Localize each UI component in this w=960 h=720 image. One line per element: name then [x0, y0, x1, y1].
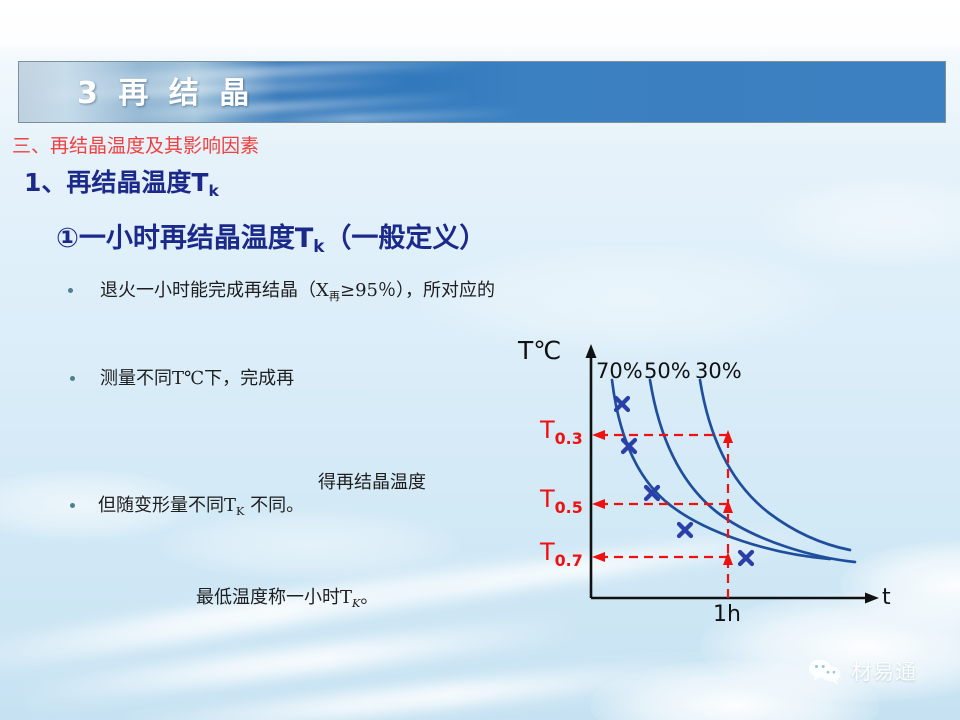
- bullet-marker: [68, 288, 73, 293]
- y-tick-t03-sub: 0.3: [555, 429, 583, 448]
- marker-cross: [616, 398, 628, 410]
- y-tick-t05-sub: 0.5: [555, 498, 583, 517]
- heading-level-2: ①一小时再结晶温度Tk（一般定义）: [56, 216, 486, 255]
- bullet-3-line-1b: 不同。: [244, 495, 304, 516]
- page-title: 3 再 结 晶: [77, 68, 254, 112]
- chart-series-label-30: 30%: [695, 359, 742, 383]
- heading-level-2-suffix: （一般定义）: [324, 223, 486, 254]
- chart-y-tick-t07: T0.7: [540, 538, 583, 566]
- y-tick-t03-base: T: [540, 416, 555, 444]
- side-note: 得再结晶温度: [318, 468, 426, 494]
- recrystallization-chart: T℃ 70% 50% 30% T0.3 T0.5 T0.7 1h t: [520, 330, 960, 630]
- bullet-item-2: 测量不同T℃下，完成再 结晶所需时间, 终了线，找出TK。: [100, 363, 294, 394]
- watermark-label: 材易通: [851, 656, 917, 686]
- y-tick-t05-base: T: [540, 485, 555, 513]
- bullet-1-line-2b: 。: [360, 587, 378, 608]
- heading-level-2-subscript: k: [313, 236, 324, 256]
- y-tick-t07-sub: 0.7: [555, 551, 583, 570]
- chart-x-axis-title: t: [882, 585, 891, 610]
- wechat-icon: [808, 658, 842, 684]
- bullet-item-3: 但随变形量不同TK 不同。: [98, 490, 304, 523]
- chart-guides: [604, 435, 728, 598]
- heading-level-2-prefix: ①一小时再结晶温度T: [56, 223, 313, 254]
- marker-cross: [679, 524, 691, 536]
- curve-30: [700, 380, 850, 550]
- heading-level-1-text: 1、再结晶温度T: [24, 168, 208, 197]
- heading-level-1: 1、再结晶温度Tk: [24, 163, 219, 199]
- bullet-marker: [70, 503, 75, 508]
- bullet-3-line-1-subscript: K: [236, 505, 244, 518]
- chart-x-tick-1h: 1h: [713, 602, 741, 627]
- bullet-1-line-2: 最低温度称一小时TK。: [196, 582, 378, 615]
- watermark: 材易通: [808, 656, 917, 686]
- chart-series-label-70: 70%: [596, 359, 643, 383]
- bullet-1-line-1-subscript: 再: [329, 290, 340, 303]
- heading-level-1-subscript: k: [208, 182, 218, 200]
- bullet-1-line-1a: 退火一小时能完成再结晶（X: [100, 280, 329, 301]
- chart-y-tick-t05: T0.5: [540, 485, 583, 513]
- bullet-1-line-1b: ≥95％），所对应的: [340, 280, 495, 301]
- y-tick-t07-base: T: [540, 538, 555, 566]
- slide-title-bar: 3 再 结 晶: [18, 61, 946, 123]
- chart-series-label-50: 50%: [644, 359, 691, 383]
- section-subheading: 三、再结晶温度及其影响因素: [12, 131, 259, 158]
- bullet-item-1: 退火一小时能完成再结晶（X再≥95％），所对应的 最低温度称一小时TK。: [100, 275, 495, 308]
- bullet-1-line-2a: 最低温度称一小时T: [196, 587, 352, 608]
- slide-canvas: 3 再 结 晶 三、再结晶温度及其影响因素 1、再结晶温度Tk ①一小时再结晶温…: [0, 0, 960, 720]
- bullet-3-line-1a: 但随变形量不同T: [98, 495, 236, 516]
- chart-data-markers: [616, 398, 752, 564]
- chart-curves: [612, 380, 855, 562]
- bullet-1-line-2-subscript: K: [352, 597, 360, 610]
- bullet-marker: [70, 376, 75, 381]
- chart-y-axis-title: T℃: [518, 336, 561, 365]
- bullet-2-line-1: 测量不同T℃下，完成再: [100, 368, 294, 389]
- marker-cross: [740, 552, 752, 564]
- chart-y-tick-t03: T0.3: [540, 416, 583, 444]
